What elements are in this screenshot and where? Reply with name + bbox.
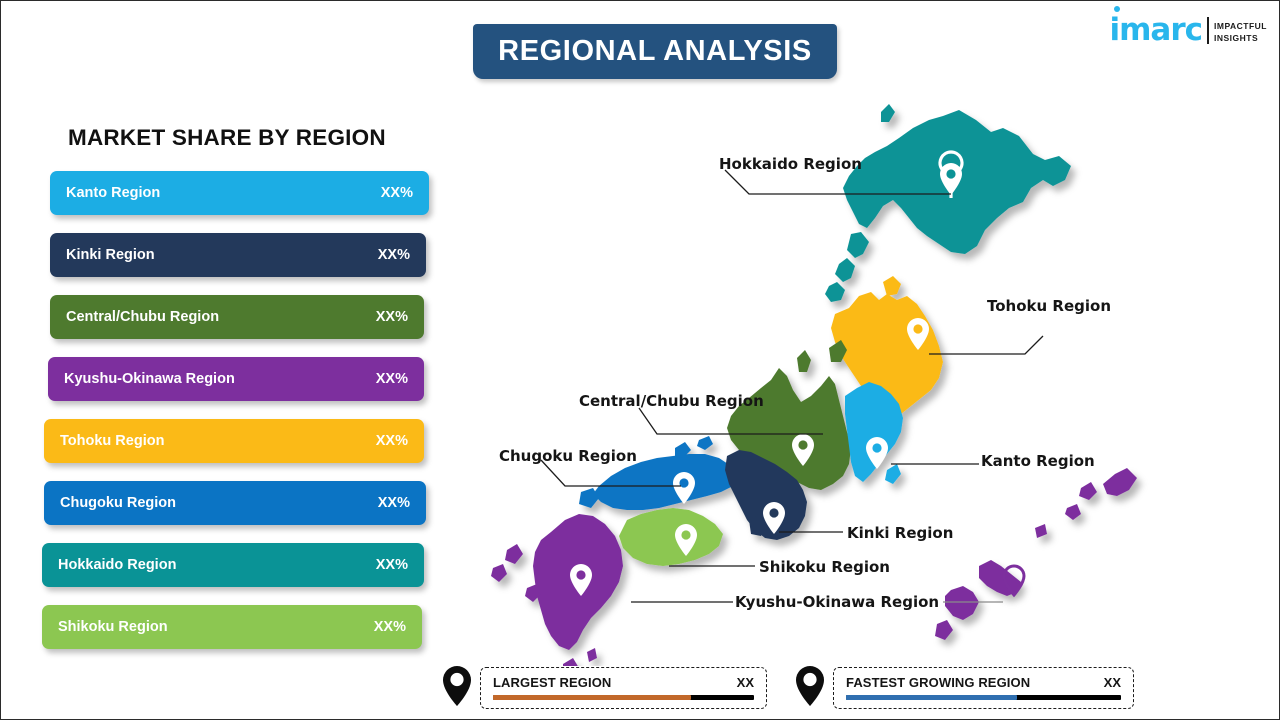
- largest-region-value: XX: [737, 675, 754, 690]
- leader-line-tohoku: [929, 336, 1043, 354]
- largest-region-label: LARGEST REGION: [493, 675, 611, 690]
- market-share-bar-label: Central/Chubu Region: [66, 309, 219, 325]
- map-pin-hole-central: [798, 440, 807, 449]
- market-share-bar[interactable]: Kyushu-Okinawa RegionXX%: [48, 357, 424, 401]
- market-share-bar[interactable]: Hokkaido RegionXX%: [42, 543, 424, 587]
- fastest-growing-region-pin-icon: [794, 664, 826, 708]
- map-region-shikoku[interactable]: [619, 508, 723, 566]
- japan-map-svg: [431, 96, 1280, 666]
- market-share-bar-value: XX%: [376, 309, 408, 325]
- market-share-bar-list: Kanto RegionXX%Kinki RegionXX%Central/Ch…: [1, 171, 441, 667]
- logo-tagline-line1: IMPACTFUL: [1214, 21, 1267, 32]
- map-region-okinawa[interactable]: [935, 468, 1137, 640]
- market-share-bar-value: XX%: [378, 495, 410, 511]
- page-title: REGIONAL ANALYSIS: [498, 35, 812, 68]
- map-pin-hole-shikoku: [681, 530, 690, 539]
- market-share-bar-value: XX%: [376, 433, 408, 449]
- logo-dot-icon: [1114, 6, 1120, 12]
- market-share-bar-label: Kinki Region: [66, 247, 155, 263]
- map-label-kinki: Kinki Region: [847, 524, 953, 542]
- market-share-bar-value: XX%: [376, 371, 408, 387]
- logo-wordmark-text: imarc: [1110, 12, 1203, 48]
- market-share-bar-value: XX%: [378, 247, 410, 263]
- largest-region-progress-track: [493, 695, 754, 700]
- market-share-bar[interactable]: Shikoku RegionXX%: [42, 605, 422, 649]
- market-share-bar[interactable]: Kanto RegionXX%: [50, 171, 429, 215]
- market-share-bar[interactable]: Central/Chubu RegionXX%: [50, 295, 424, 339]
- logo-tagline-line2: INSIGHTS: [1214, 33, 1267, 44]
- market-share-bar-label: Tohoku Region: [60, 433, 164, 449]
- logo-divider: [1207, 17, 1209, 44]
- fastest-growing-region-value: XX: [1104, 675, 1121, 690]
- market-share-bar[interactable]: Chugoku RegionXX%: [44, 481, 426, 525]
- map-region-hokkaido[interactable]: [825, 104, 1071, 302]
- market-share-bar-label: Kyushu-Okinawa Region: [64, 371, 235, 387]
- market-share-bar-value: XX%: [381, 185, 413, 201]
- map-pin-hole-tohoku: [913, 324, 922, 333]
- market-share-bar-value: XX%: [376, 557, 408, 573]
- map-pin-hole-hokkaido: [946, 169, 955, 178]
- map-label-kanto: Kanto Region: [981, 452, 1095, 470]
- market-share-bar[interactable]: Tohoku RegionXX%: [44, 419, 424, 463]
- map-pin-hole-kanto: [872, 443, 881, 452]
- largest-region-progress-fill: [493, 695, 691, 700]
- largest-region-pin-icon: [441, 664, 473, 708]
- map-label-shikoku: Shikoku Region: [759, 558, 890, 576]
- map-pin-hole-kyushu: [576, 570, 585, 579]
- fastest-growing-region-legend[interactable]: FASTEST GROWING REGION XX: [833, 667, 1134, 709]
- map-pin-hole-kinki: [769, 508, 778, 517]
- fastest-growing-region-progress-fill: [846, 695, 1017, 700]
- market-share-bar-label: Chugoku Region: [60, 495, 176, 511]
- map-label-central-chubu: Central/Chubu Region: [579, 392, 764, 410]
- fastest-growing-region-label: FASTEST GROWING REGION: [846, 675, 1030, 690]
- logo-tagline: IMPACTFUL INSIGHTS: [1214, 21, 1267, 46]
- market-share-bar-label: Shikoku Region: [58, 619, 168, 635]
- market-share-panel-title: MARKET SHARE BY REGION: [68, 125, 386, 151]
- market-share-bar[interactable]: Kinki RegionXX%: [50, 233, 426, 277]
- fastest-growing-region-progress-track: [846, 695, 1121, 700]
- map-label-hokkaido: Hokkaido Region: [719, 155, 862, 173]
- japan-regional-map: Hokkaido Region Tohoku Region Central/Ch…: [431, 96, 1280, 666]
- map-label-kyushu-okinawa: Kyushu-Okinawa Region: [735, 593, 939, 611]
- market-share-bar-value: XX%: [374, 619, 406, 635]
- logo-wordmark: imarc: [1110, 15, 1203, 46]
- page-title-banner: REGIONAL ANALYSIS: [473, 24, 837, 79]
- map-label-tohoku: Tohoku Region: [987, 297, 1111, 315]
- map-label-chugoku: Chugoku Region: [499, 447, 637, 465]
- market-share-bar-label: Kanto Region: [66, 185, 160, 201]
- largest-region-legend[interactable]: LARGEST REGION XX: [480, 667, 767, 709]
- imarc-logo: imarc IMPACTFUL INSIGHTS: [1110, 15, 1268, 46]
- map-region-kyushu[interactable]: [491, 514, 623, 666]
- market-share-bar-label: Hokkaido Region: [58, 557, 176, 573]
